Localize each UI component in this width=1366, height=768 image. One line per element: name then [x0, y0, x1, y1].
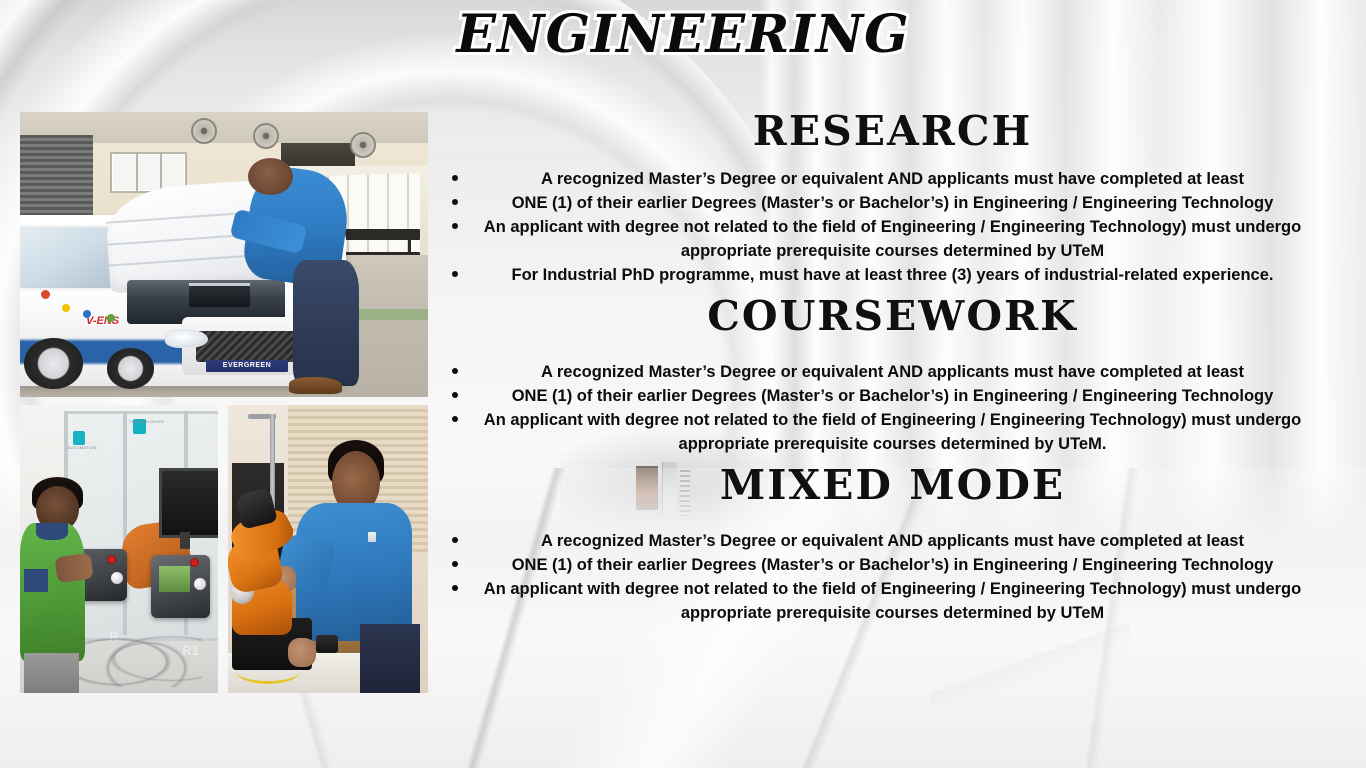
list-item-text: For Industrial PhD programme, must have … [512, 266, 1274, 284]
bullet-list-mixed-mode: A recognized Master’s Degree or equivale… [440, 529, 1345, 625]
list-item: An applicant with degree not related to … [440, 408, 1345, 432]
list-item-text: A recognized Master’s Degree or equivale… [541, 170, 1244, 188]
brand-logo-icon [73, 431, 85, 445]
list-item-continuation: appropriate prerequisite courses determi… [440, 432, 1345, 456]
bullet-dot-icon [452, 585, 458, 591]
list-item-text: An applicant with degree not related to … [484, 580, 1301, 598]
bullet-dot-icon [452, 561, 458, 567]
section-research: RESEARCH A recognized Master’s Degree or… [440, 110, 1345, 287]
bullet-dot-icon [452, 368, 458, 374]
photo-industrial-robot-arm [228, 405, 428, 693]
list-item: ONE (1) of their earlier Degrees (Master… [440, 191, 1345, 215]
wall-fan-icon [191, 118, 217, 144]
photo-robotics-teach-pendant: AUTOMATION TECHNOLOGIES R R1 [20, 405, 218, 693]
list-item-text: A recognized Master’s Degree or equivale… [541, 363, 1244, 381]
car-plate: EVERGREEN [206, 360, 288, 372]
lab-monitor [159, 468, 218, 537]
list-item-text: appropriate prerequisite courses determi… [681, 604, 1104, 622]
list-item-text: appropriate prerequisite courses determi… [679, 435, 1107, 453]
bullet-dot-icon [452, 199, 458, 205]
slide-canvas: ENGINEERING [0, 0, 1366, 768]
heading-coursework: COURSEWORK [440, 295, 1345, 338]
list-item: A recognized Master’s Degree or equivale… [440, 167, 1345, 191]
list-item-text: appropriate prerequisite courses determi… [681, 242, 1104, 260]
list-item: ONE (1) of their earlier Degrees (Master… [440, 384, 1345, 408]
bullet-dot-icon [452, 392, 458, 398]
list-item-continuation: appropriate prerequisite courses determi… [440, 239, 1345, 263]
bullet-list-coursework: A recognized Master’s Degree or equivale… [440, 360, 1345, 456]
list-item: A recognized Master’s Degree or equivale… [440, 529, 1345, 553]
list-item: An applicant with degree not related to … [440, 215, 1345, 239]
heading-mixed-mode: MIXED MODE [440, 464, 1345, 507]
bullet-dot-icon [452, 537, 458, 543]
bullet-dot-icon [452, 175, 458, 181]
list-item-continuation: appropriate prerequisite courses determi… [440, 601, 1345, 625]
bullet-dot-icon [452, 416, 458, 422]
page-title: ENGINEERING [0, 4, 1366, 65]
list-item: A recognized Master’s Degree or equivale… [440, 360, 1345, 384]
list-item-text: ONE (1) of their earlier Degrees (Master… [512, 556, 1274, 574]
list-item: For Industrial PhD programme, must have … [440, 263, 1345, 287]
bullet-list-research: A recognized Master’s Degree or equivale… [440, 167, 1345, 287]
list-item-text: An applicant with degree not related to … [484, 218, 1301, 236]
section-mixed-mode: MIXED MODE A recognized Master’s Degree … [440, 464, 1345, 625]
list-item-text: An applicant with degree not related to … [484, 411, 1301, 429]
list-item-text: A recognized Master’s Degree or equivale… [541, 532, 1244, 550]
admission-requirements-content: RESEARCH A recognized Master’s Degree or… [440, 104, 1345, 627]
bullet-dot-icon [452, 271, 458, 277]
list-item: An applicant with degree not related to … [440, 577, 1345, 601]
section-coursework: COURSEWORK A recognized Master’s Degree … [440, 295, 1345, 456]
list-item-text: ONE (1) of their earlier Degrees (Master… [512, 387, 1274, 405]
bullet-dot-icon [452, 223, 458, 229]
photo-car-engine-lab: EVERGREEN V-ENS [20, 112, 428, 397]
wall-fan-icon [253, 123, 279, 149]
list-item-text: ONE (1) of their earlier Degrees (Master… [512, 194, 1274, 212]
list-item: ONE (1) of their earlier Degrees (Master… [440, 553, 1345, 577]
heading-research: RESEARCH [440, 110, 1345, 153]
